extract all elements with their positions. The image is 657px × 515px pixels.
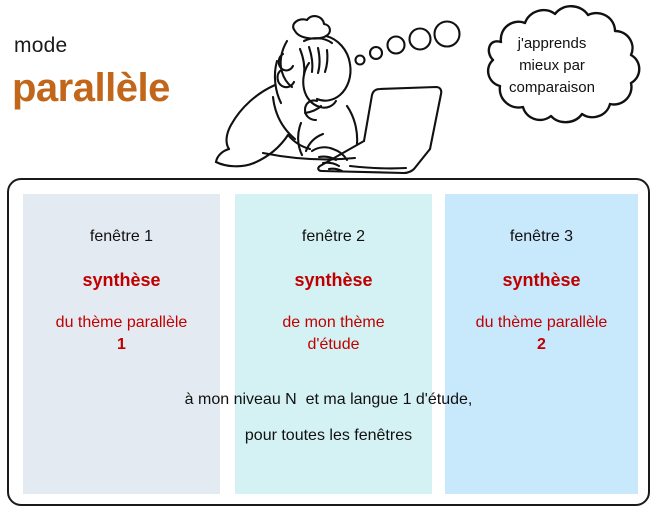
description-line-3b: 2 [441, 334, 642, 356]
synthesis-label-3: synthèse [445, 270, 638, 291]
description-line-2a: de mon thème [231, 312, 436, 334]
bubble-line-2: mieux par [472, 55, 632, 77]
bubble-line-3: comparaison [472, 77, 632, 99]
thought-bubble-text: j'apprends mieux par comparaison [472, 33, 632, 98]
mode-title: parallèle [12, 66, 170, 110]
slide-canvas: mode parallèle [0, 0, 657, 515]
window-label-2: fenêtre 2 [235, 228, 432, 246]
window-column-1[interactable]: fenêtre 1 synthèse du thème parallèle 1 [23, 194, 220, 494]
synthesis-description-2: de mon thème d'étude [231, 312, 436, 355]
window-label-3: fenêtre 3 [445, 228, 638, 246]
synthesis-description-3: du thème parallèle 2 [441, 312, 642, 355]
description-line-3a: du thème parallèle [441, 312, 642, 334]
window-columns: fenêtre 1 synthèse du thème parallèle 1 … [23, 194, 638, 494]
windows-panel: fenêtre 1 synthèse du thème parallèle 1 … [7, 178, 650, 506]
description-line-1a: du thème parallèle [19, 312, 224, 334]
bubble-line-1: j'apprends [472, 33, 632, 55]
window-label-1: fenêtre 1 [23, 228, 220, 246]
synthesis-description-1: du thème parallèle 1 [19, 312, 224, 355]
synthesis-label-2: synthèse [235, 270, 432, 291]
description-line-2b: d'étude [231, 334, 436, 356]
description-line-1b: 1 [19, 334, 224, 356]
mode-label: mode [14, 34, 67, 58]
window-column-3[interactable]: fenêtre 3 synthèse du thème parallèle 2 [445, 194, 638, 494]
synthesis-label-1: synthèse [23, 270, 220, 291]
window-column-2[interactable]: fenêtre 2 synthèse de mon thème d'étude [235, 194, 432, 494]
